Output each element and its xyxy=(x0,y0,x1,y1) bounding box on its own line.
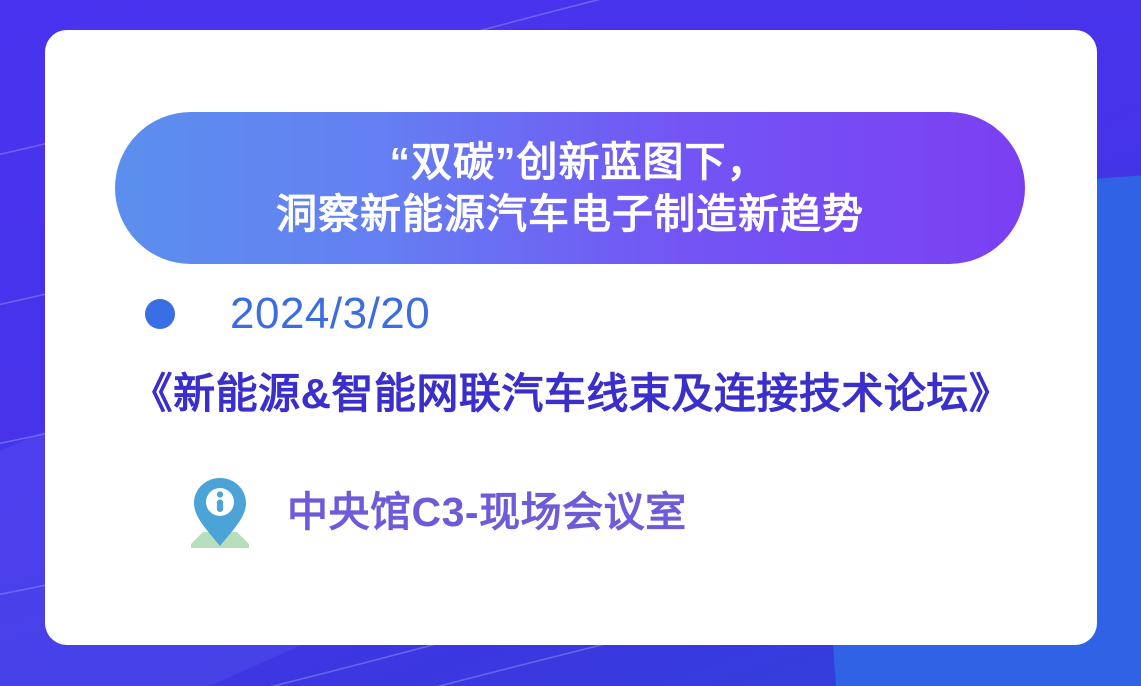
forum-title: 《新能源&智能网联汽车线束及连接技术论坛》 xyxy=(45,360,1097,421)
event-date-row: 2024/3/20 xyxy=(145,292,430,336)
headline-line-2: 洞察新能源汽车电子制造新趋势 xyxy=(276,188,864,240)
event-location-value: 中央馆C3-现场会议室 xyxy=(287,492,687,533)
event-location-row: 中央馆C3-现场会议室 xyxy=(185,470,687,554)
headline-line-1: “双碳”创新蓝图下， xyxy=(372,136,769,188)
map-pin-info-icon xyxy=(185,470,255,554)
content-card: “双碳”创新蓝图下， 洞察新能源汽车电子制造新趋势 2024/3/20 《新能源… xyxy=(45,30,1097,645)
filled-circle-icon xyxy=(145,299,175,329)
headline-pill: “双碳”创新蓝图下， 洞察新能源汽车电子制造新趋势 xyxy=(115,112,1025,264)
event-date-value: 2024/3/20 xyxy=(230,292,430,336)
event-banner-poster: “双碳”创新蓝图下， 洞察新能源汽车电子制造新趋势 2024/3/20 《新能源… xyxy=(0,0,1141,686)
